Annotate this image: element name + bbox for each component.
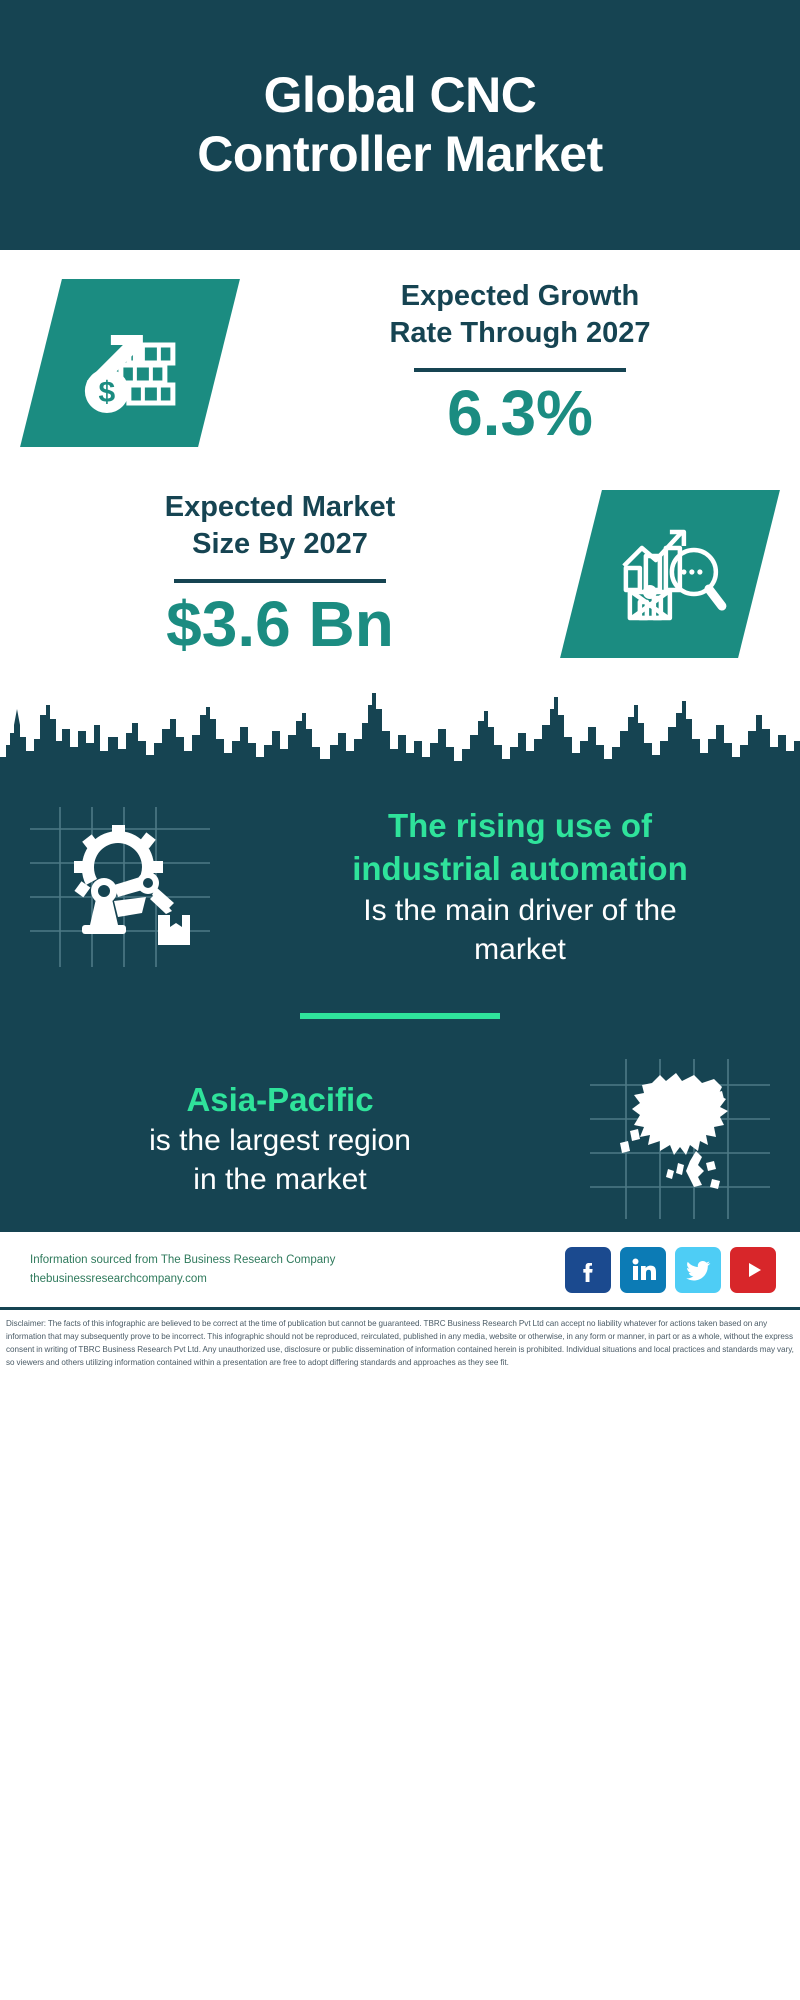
insight-region-plain-line1: is the largest region (149, 1124, 411, 1157)
infographic-page: Global CNC Controller Market (0, 0, 800, 2000)
stat-growth-label-line1: Expected Growth (401, 280, 640, 312)
insights-section: The rising use of industrial automation … (0, 805, 800, 1229)
footer-source-line: Information sourced from The Business Re… (30, 1251, 565, 1270)
insight-region-plain-line2: in the market (193, 1163, 366, 1196)
facebook-icon[interactable] (565, 1247, 611, 1293)
insight-driver: The rising use of industrial automation … (0, 805, 800, 969)
insight-region-icon-cell (560, 1059, 800, 1219)
svg-text:$: $ (99, 376, 116, 409)
stat-growth-label: Expected Growth Rate Through 2027 (260, 278, 780, 352)
page-title-line2: Controller Market (197, 126, 602, 182)
insight-driver-icon-cell (0, 807, 240, 967)
youtube-icon[interactable] (730, 1247, 776, 1293)
stat-market-size: Expected Market Size By 2027 $3.6 Bn (0, 489, 800, 660)
header: Global CNC Controller Market (0, 0, 800, 250)
footer-website-line[interactable]: thebusinessresearchcompany.com (30, 1270, 565, 1289)
insight-driver-accent-line1: The rising use of (388, 807, 652, 844)
insight-region-text-cell: Asia-Pacific is the largest region in th… (0, 1079, 560, 1200)
stat-growth-text-cell: Expected Growth Rate Through 2027 6.3% (260, 278, 780, 449)
money-growth-icon: $ (20, 279, 240, 447)
footer: Information sourced from The Business Re… (0, 1229, 800, 1307)
chart-magnifier-icon (560, 490, 780, 658)
twitter-icon[interactable] (675, 1247, 721, 1293)
stat-growth-icon-cell: $ (0, 279, 260, 447)
stat-market-label: Expected Market Size By 2027 (20, 489, 540, 563)
social-links (565, 1247, 800, 1293)
insight-region: Asia-Pacific is the largest region in th… (0, 1059, 800, 1219)
stat-market-value: $3.6 Bn (20, 589, 540, 659)
stat-market-label-line1: Expected Market (165, 491, 396, 523)
insight-region-accent: Asia-Pacific (22, 1079, 538, 1122)
stat-growth-rate: $ Expected Growth Rate Through 2027 6.3% (0, 278, 800, 449)
insight-driver-plain: Is the main driver of the market (262, 891, 778, 969)
stat-growth-divider (414, 368, 626, 372)
insight-region-accent-line1: Asia-Pacific (186, 1081, 373, 1118)
insight-region-plain: is the largest region in the market (22, 1121, 538, 1199)
linkedin-icon[interactable] (620, 1247, 666, 1293)
stat-market-divider (174, 579, 386, 583)
stat-market-text-cell: Expected Market Size By 2027 $3.6 Bn (20, 489, 540, 660)
stat-growth-value: 6.3% (260, 378, 780, 448)
page-title: Global CNC Controller Market (157, 66, 642, 184)
insight-driver-accent-line2: industrial automation (352, 850, 688, 887)
money-growth-glyph: $ (71, 305, 189, 422)
footer-source: Information sourced from The Business Re… (30, 1251, 565, 1289)
disclaimer: Disclaimer: The facts of this infographi… (0, 1307, 800, 1373)
insight-driver-text-cell: The rising use of industrial automation … (240, 805, 800, 969)
city-skyline (0, 685, 800, 805)
insight-driver-plain-line2: market (474, 933, 566, 966)
insight-driver-plain-line1: Is the main driver of the (363, 894, 676, 927)
stat-market-icon-cell (540, 490, 800, 658)
page-title-line1: Global CNC (264, 67, 537, 123)
chart-magnifier-glyph (612, 513, 728, 634)
stats-section: $ Expected Growth Rate Through 2027 6.3% (0, 250, 800, 659)
stat-market-label-line2: Size By 2027 (192, 528, 368, 560)
section-divider (300, 1013, 500, 1019)
stat-growth-label-line2: Rate Through 2027 (389, 317, 650, 349)
asia-map-icon (590, 1059, 770, 1219)
robot-arm-gear-icon (30, 807, 210, 967)
disclaimer-text: Disclaimer: The facts of this infographi… (6, 1317, 794, 1369)
insight-driver-accent: The rising use of industrial automation (262, 805, 778, 891)
